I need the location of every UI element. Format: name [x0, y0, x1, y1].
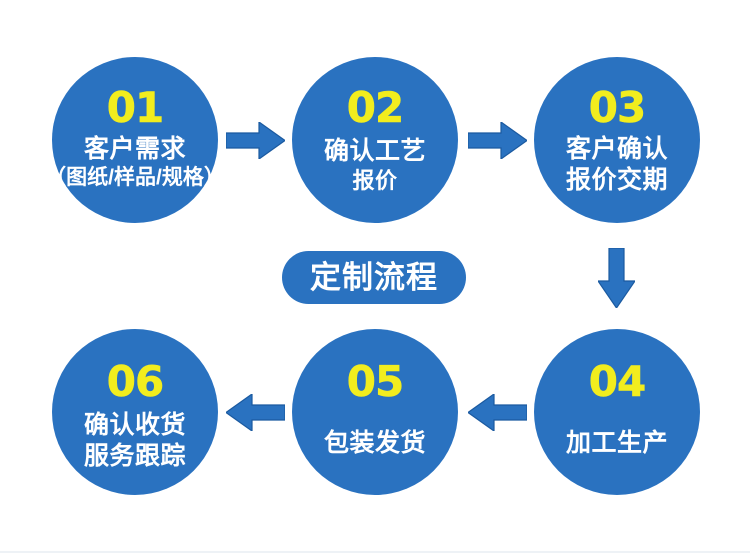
step-label-05-line-1: 包装发货	[324, 429, 426, 459]
step-label-05: 包装发货	[324, 429, 426, 459]
step-number-03: 03	[589, 87, 645, 129]
step-label-02-line-2: 报价	[352, 168, 397, 194]
center-badge-label: 定制流程	[310, 262, 438, 293]
step-label-04: 加工生产	[566, 429, 668, 459]
step-label-06: 确认收货 服务跟踪	[84, 411, 186, 471]
step-label-06-line-1: 确认收货	[84, 411, 186, 441]
arrow-left-icon-step-04-to-05	[468, 394, 527, 431]
step-label-03-line-1: 客户确认	[566, 135, 668, 165]
step-label-03-line-2: 报价交期	[566, 166, 668, 196]
step-label-03: 客户确认 报价交期	[566, 135, 668, 195]
process-step-03[interactable]: 03 客户确认 报价交期	[534, 57, 700, 223]
process-step-02[interactable]: 02 确认工艺 报价	[292, 57, 458, 223]
step-number-05: 05	[347, 361, 403, 403]
step-label-01-line-1: 客户需求	[84, 135, 186, 165]
center-badge-custom-process: 定制流程	[282, 251, 466, 304]
step-label-02: 确认工艺 报价	[324, 137, 426, 193]
custom-process-diagram: 01 客户需求 （图纸/样品/规格） 02 确认工艺 报价 03 客户确认 报价…	[0, 0, 750, 553]
step-number-02: 02	[347, 87, 403, 129]
process-step-05[interactable]: 05 包装发货	[292, 329, 458, 495]
step-number-01: 01	[107, 87, 163, 129]
step-label-06-line-2: 服务跟踪	[84, 442, 186, 472]
process-step-04[interactable]: 04 加工生产	[534, 329, 700, 495]
step-label-04-line-1: 加工生产	[566, 429, 668, 459]
step-number-06: 06	[107, 361, 163, 403]
process-step-06[interactable]: 06 确认收货 服务跟踪	[52, 329, 218, 495]
arrow-right-icon-step-02-to-03	[468, 122, 527, 159]
arrow-down-icon-step-03-to-04	[598, 248, 635, 308]
step-label-01-line-2: （图纸/样品/规格）	[45, 166, 225, 191]
process-step-01[interactable]: 01 客户需求 （图纸/样品/规格）	[52, 57, 218, 223]
step-number-04: 04	[589, 361, 645, 403]
arrow-right-icon-step-01-to-02	[226, 122, 285, 159]
step-label-01: 客户需求 （图纸/样品/规格）	[45, 135, 225, 190]
step-label-02-line-1: 确认工艺	[324, 137, 426, 167]
arrow-left-icon-step-05-to-06	[226, 394, 285, 431]
